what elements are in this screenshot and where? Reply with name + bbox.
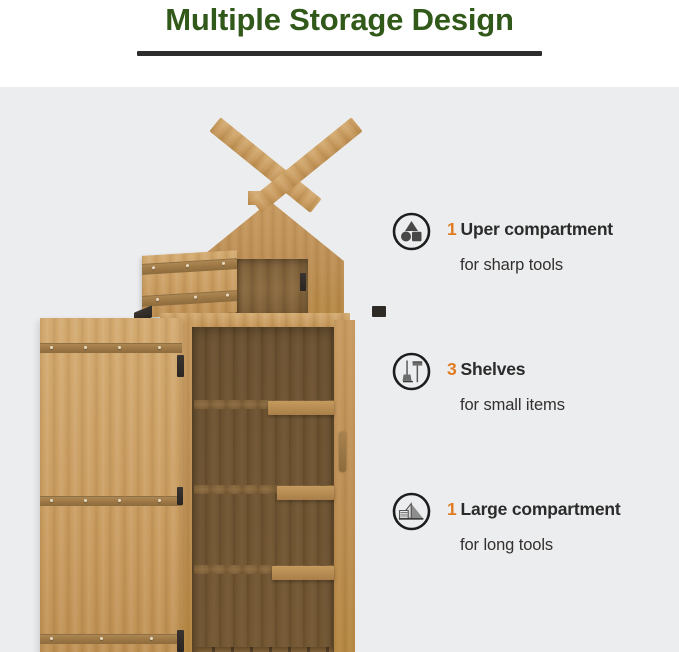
body-panel: 1Uper compartment for sharp tools [0, 87, 679, 652]
upper-compartment-door [142, 250, 237, 318]
main-door-brace-bottom [40, 634, 182, 644]
screw [158, 346, 161, 349]
page-title: Multiple Storage Design [0, 0, 679, 42]
shapes-icon [392, 212, 431, 251]
screw [158, 499, 161, 502]
feature-list: 1Uper compartment for sharp tools [385, 87, 679, 652]
upper-door-brace-top [142, 258, 237, 275]
screw [50, 499, 53, 502]
main-door-hinge-middle-icon [177, 487, 183, 505]
title-divider-rule [137, 51, 542, 56]
screw [84, 346, 87, 349]
feature-headline: 1Uper compartment [447, 219, 613, 240]
feature-count: 1 [447, 219, 457, 239]
main-door-hinge-top-icon [177, 355, 184, 377]
roof-eave-right [372, 306, 386, 317]
feature-count: 3 [447, 359, 457, 379]
feature-count: 1 [447, 499, 457, 519]
main-cabinet-door [40, 318, 182, 652]
screw [84, 499, 87, 502]
screw [100, 637, 103, 640]
feature-title: Large compartment [461, 499, 621, 519]
shed-icon [392, 492, 431, 531]
shelf-front-2 [277, 486, 334, 500]
header-band: Multiple Storage Design [0, 0, 679, 87]
product-image [0, 87, 400, 652]
screw [118, 499, 121, 502]
screw [50, 637, 53, 640]
upper-compartment-opening [236, 259, 308, 319]
main-door-hinge-bottom-icon [177, 630, 184, 652]
cabinet-right-post [334, 320, 355, 652]
feature-headline: 1Large compartment [447, 499, 621, 520]
feature-subtitle: for small items [460, 396, 565, 415]
feature-title: Uper compartment [461, 219, 613, 239]
infographic-page: Multiple Storage Design [0, 0, 679, 652]
feature-subtitle: for sharp tools [460, 256, 563, 275]
shelf-front-1 [268, 401, 334, 415]
cabinet-floor-slats [196, 647, 333, 652]
screw [50, 346, 53, 349]
feature-headline: 3Shelves [447, 359, 525, 380]
upper-compartment-latch-icon [300, 273, 306, 291]
screw [150, 637, 153, 640]
feature-title: Shelves [461, 359, 526, 379]
broom-rake-icon [392, 352, 431, 391]
screw [118, 346, 121, 349]
feature-subtitle: for long tools [460, 536, 553, 555]
shelf-front-3 [272, 566, 334, 580]
door-handle [339, 432, 346, 472]
